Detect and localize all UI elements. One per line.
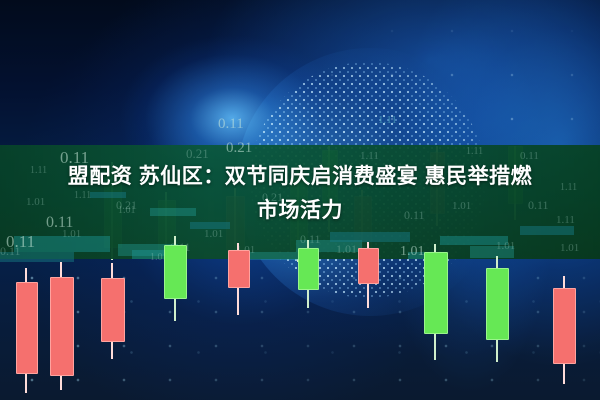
candlestick-body xyxy=(553,288,576,364)
headline-line-1: 盟配资 苏仙区：双节同庆启消费盛宴 惠民举措燃 xyxy=(68,165,532,188)
candlestick-body xyxy=(358,248,379,284)
candlestick-body xyxy=(486,268,509,340)
candlestick-body xyxy=(298,248,319,290)
candlestick-body xyxy=(50,277,74,376)
candlestick-body xyxy=(424,252,448,334)
candlestick-body xyxy=(228,250,250,288)
candlestick-body xyxy=(101,278,125,342)
candlestick-body xyxy=(16,282,38,374)
candlestick-body xyxy=(164,245,187,299)
banner-image: 0.111.010.110.111.010.111.011.110.210.21… xyxy=(0,0,600,400)
headline-line-2: 市场活力 xyxy=(0,194,600,228)
headline: 盟配资 苏仙区：双节同庆启消费盛宴 惠民举措燃 市场活力 xyxy=(0,160,600,228)
